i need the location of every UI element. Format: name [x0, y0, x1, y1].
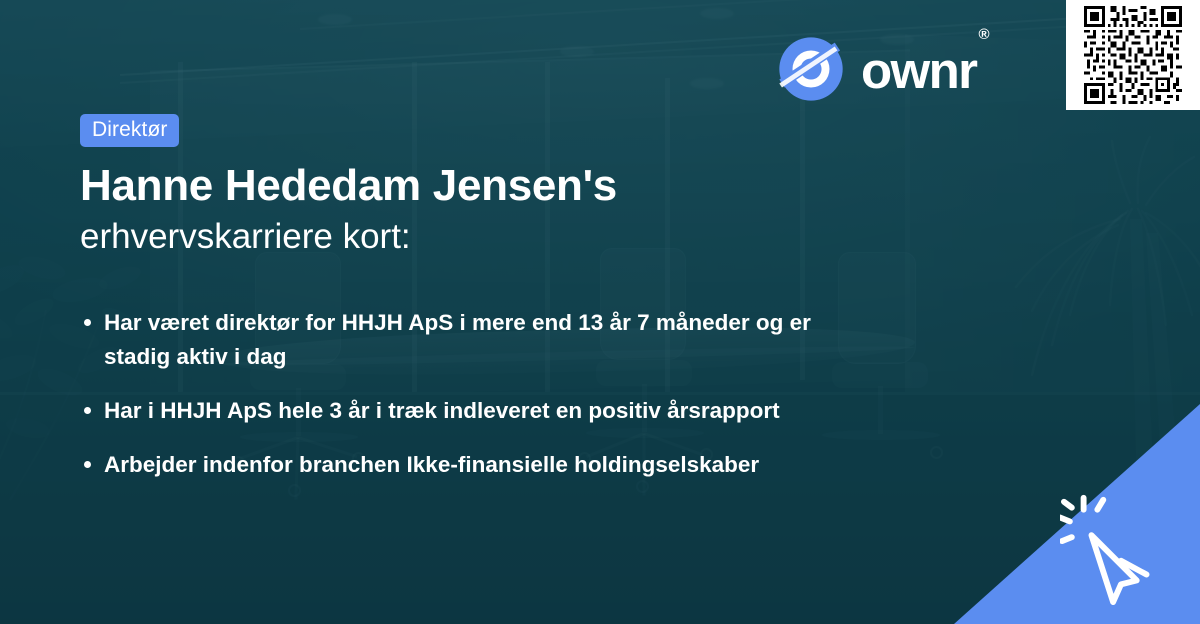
registered-trademark-icon: ®	[978, 26, 989, 43]
qr-code-icon[interactable]	[1073, 6, 1193, 104]
career-summary-card: Direktør Hanne Hededam Jensen's erhvervs…	[0, 0, 1200, 624]
page-subtitle: erhvervskarriere kort:	[80, 213, 411, 261]
career-facts-list: Har været direktør for HHJH ApS i mere e…	[82, 306, 1042, 502]
list-item: Har i HHJH ApS hele 3 år i træk indlever…	[82, 394, 882, 428]
list-item: Arbejder indenfor branchen Ikke-finansie…	[82, 448, 882, 482]
click-cursor-icon	[1060, 488, 1178, 606]
ownr-wordmark: ownr	[861, 45, 976, 96]
content-layer: Direktør Hanne Hededam Jensen's erhvervs…	[0, 0, 1200, 624]
list-item: Har været direktør for HHJH ApS i mere e…	[82, 306, 882, 374]
role-badge: Direktør	[80, 114, 179, 147]
page-title: Hanne Hededam Jensen's	[80, 157, 617, 215]
ownr-logo: ownr ®	[778, 36, 988, 102]
ownr-swirl-icon	[778, 36, 844, 102]
qr-code-panel[interactable]	[1066, 0, 1200, 110]
